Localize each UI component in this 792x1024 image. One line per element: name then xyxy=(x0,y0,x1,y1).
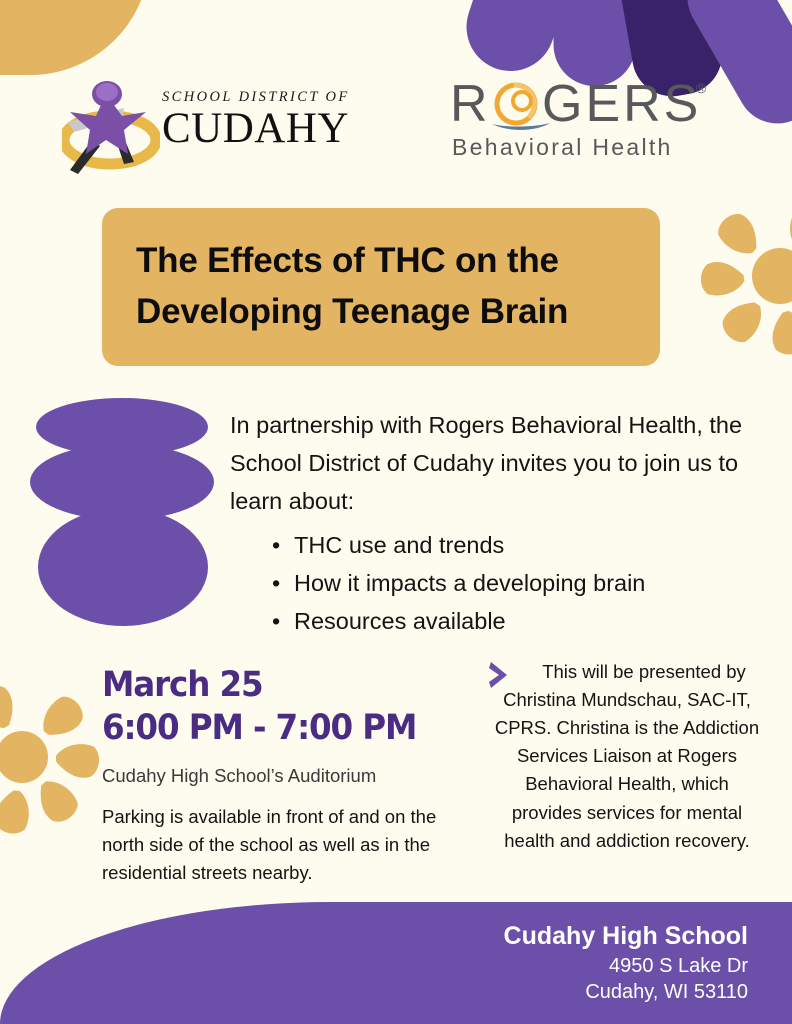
cudahy-wordmark: SCHOOL DISTRICT OF CUDAHY xyxy=(162,90,350,150)
event-details-section: March 25 6:00 PM - 7:00 PM Cudahy High S… xyxy=(102,664,452,887)
event-time: 6:00 PM - 7:00 PM xyxy=(102,707,428,750)
purple-ellipse-middle xyxy=(30,444,214,520)
footer-address-line2: Cudahy, WI 53110 xyxy=(504,979,748,1005)
presenter-bio: This will be presented by Christina Mund… xyxy=(488,658,766,855)
event-venue: Cudahy High School’s Auditorium xyxy=(102,763,452,789)
school-district-of-cudahy-logo: SCHOOL DISTRICT OF CUDAHY xyxy=(62,76,362,181)
rogers-behavioral-health-logo: R GERS ® Behavioral Health xyxy=(450,74,720,182)
registered-trademark-mark: ® xyxy=(696,80,706,96)
chevron-right-icon xyxy=(488,660,510,690)
cudahy-line-small: SCHOOL DISTRICT OF xyxy=(162,90,350,105)
svg-text:GERS: GERS xyxy=(542,75,701,133)
footer-address-block: Cudahy High School 4950 S Lake Dr Cudahy… xyxy=(504,920,748,1005)
topic-list: THC use and trends How it impacts a deve… xyxy=(230,526,772,640)
gold-curved-corner-shape xyxy=(0,0,150,75)
event-flyer: SCHOOL DISTRICT OF CUDAHY R GERS ® B xyxy=(0,0,792,1024)
list-item: Resources available xyxy=(272,602,772,640)
footer-band: Cudahy High School 4950 S Lake Dr Cudahy… xyxy=(0,902,792,1024)
page-title-line1: The Effects of THC on the xyxy=(136,236,568,287)
svg-text:R: R xyxy=(450,75,491,133)
gold-curved-corner-shape-accent xyxy=(0,0,125,62)
rogers-wordmark-svg: R GERS xyxy=(450,74,720,136)
purple-ellipse-top xyxy=(36,398,208,456)
footer-address-line1: 4950 S Lake Dr xyxy=(504,953,748,979)
purple-ellipse-bottom xyxy=(38,508,208,626)
cudahy-line-big: CUDAHY xyxy=(162,107,350,151)
presenter-section: This will be presented by Christina Mund… xyxy=(488,658,766,855)
gold-sunburst-bottom-left xyxy=(0,672,102,842)
rogers-subtitle: Behavioral Health xyxy=(452,134,673,161)
parking-info: Parking is available in front of and on … xyxy=(102,803,452,886)
cudahy-figure-icon xyxy=(62,78,160,178)
logo-row: SCHOOL DISTRICT OF CUDAHY R GERS ® B xyxy=(0,68,792,188)
title-banner: The Effects of THC on the Developing Tee… xyxy=(102,208,660,366)
gold-sunburst-right xyxy=(700,196,792,356)
purple-stacked-ellipses xyxy=(28,398,216,626)
intro-paragraph: In partnership with Rogers Behavioral He… xyxy=(230,406,772,520)
page-title-line2: Developing Teenage Brain xyxy=(136,287,568,338)
rogers-wordmark: R GERS ® xyxy=(450,74,720,136)
footer-school-name: Cudahy High School xyxy=(504,920,748,953)
list-item: How it impacts a developing brain xyxy=(272,564,772,602)
intro-section: In partnership with Rogers Behavioral He… xyxy=(230,406,772,640)
event-date: March 25 xyxy=(102,664,428,707)
list-item: THC use and trends xyxy=(272,526,772,564)
page-title: The Effects of THC on the Developing Tee… xyxy=(102,236,602,338)
rogers-gold-swirl-icon xyxy=(497,85,535,123)
